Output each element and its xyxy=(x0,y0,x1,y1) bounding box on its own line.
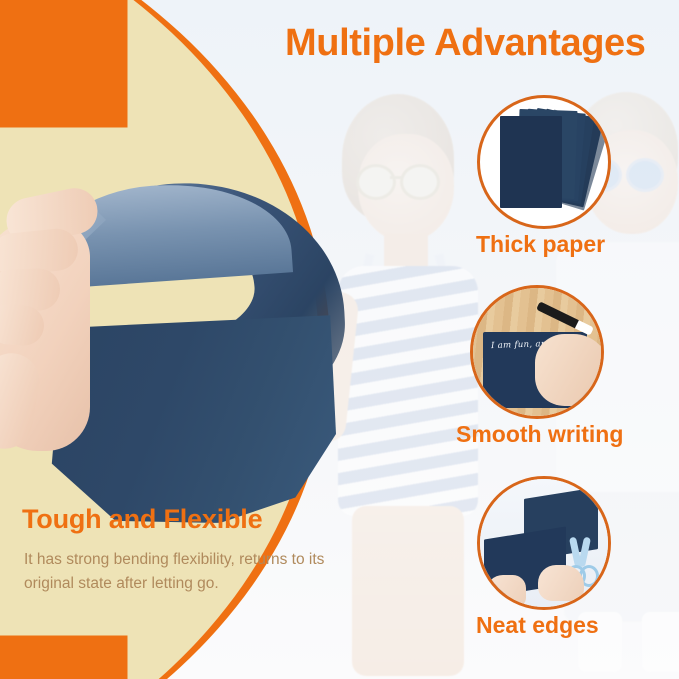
hand-writing-with-pen-icon xyxy=(535,334,604,406)
hero-bending-sheet xyxy=(0,185,340,515)
hand-holding-sheet xyxy=(0,185,122,475)
feature-label-thick-paper: Thick paper xyxy=(476,231,679,258)
lens-right xyxy=(626,158,664,192)
hand-left xyxy=(486,575,526,607)
sunglasses-icon xyxy=(356,164,460,194)
stacked-cardstock-sheets-icon xyxy=(488,108,600,216)
feature-thumbnail xyxy=(477,95,611,229)
feature-label-neat-edges: Neat edges xyxy=(476,612,679,639)
feature-thumbnail xyxy=(477,476,611,610)
left-panel-heading: Tough and Flexible xyxy=(22,504,262,535)
infographic-canvas: Multiple Advantages Tough and Flexible I… xyxy=(0,0,679,679)
page-title: Multiple Advantages xyxy=(285,22,677,65)
girl-striped-swimsuit xyxy=(338,266,478,516)
left-panel-body: It has strong bending flexibility, retur… xyxy=(24,548,344,595)
feature-thumbnail: I am fun, and xyxy=(470,285,604,419)
lens-left xyxy=(356,164,396,200)
lens-right xyxy=(400,164,440,200)
sheet-layer-front xyxy=(500,116,562,208)
scissors-blade xyxy=(578,537,591,568)
girl-legs xyxy=(352,506,464,676)
hand-right xyxy=(538,565,584,601)
feature-label-smooth-writing: Smooth writing xyxy=(456,421,679,448)
